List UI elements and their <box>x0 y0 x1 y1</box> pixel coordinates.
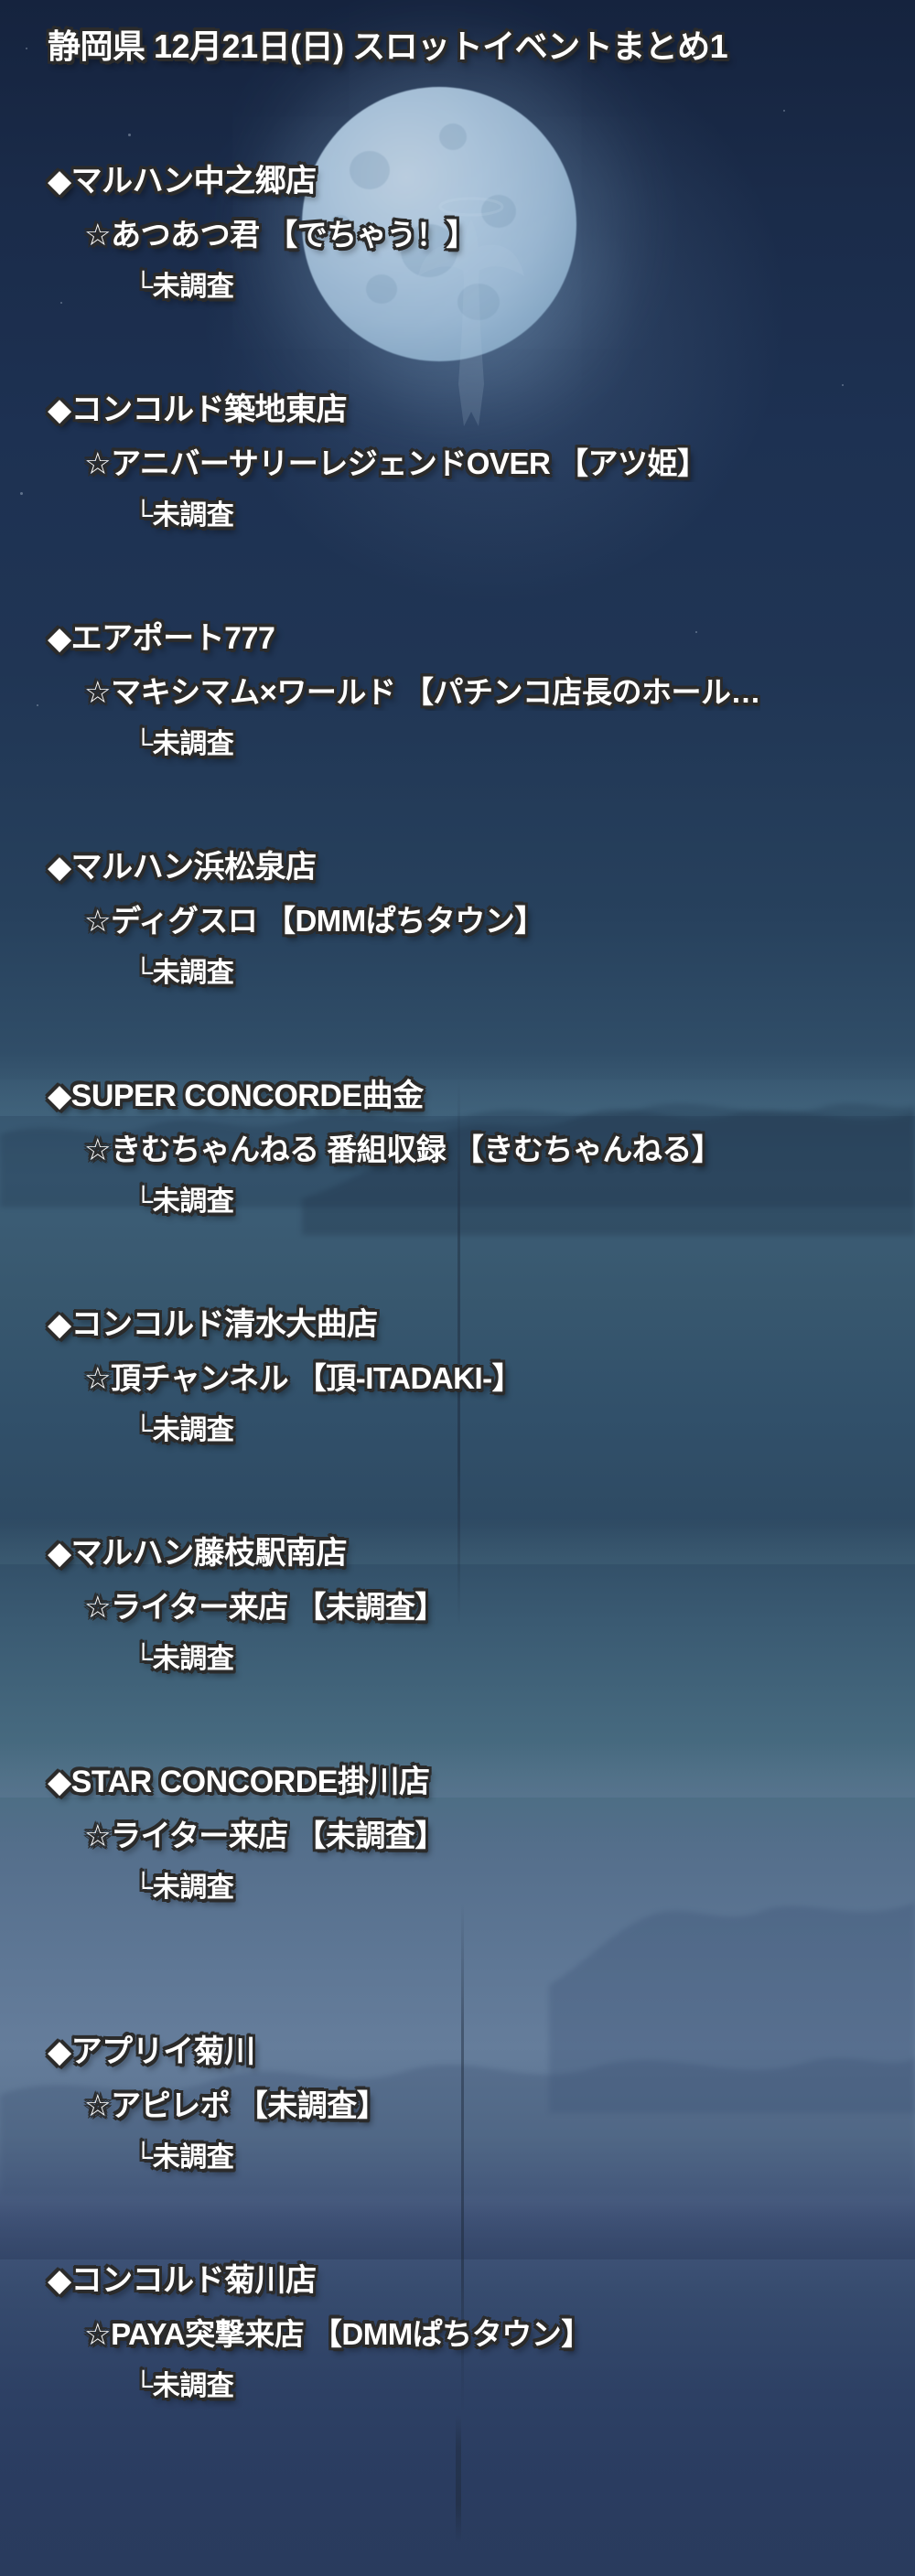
event-name: ☆ディグスロ 【DMMぱちタウン】 <box>84 902 544 939</box>
event-status: └未調査 <box>134 1185 233 1219</box>
event-status: └未調査 <box>134 2141 233 2175</box>
event-status: └未調査 <box>134 2369 233 2404</box>
shop-name: ◆コンコルド菊川店 <box>48 2261 317 2300</box>
event-name: ☆マキシマム×ワールド 【パチンコ店長のホール… <box>84 673 760 711</box>
event-name: ☆頂チャンネル 【頂-ITADAKI-】 <box>84 1359 522 1397</box>
shop-name: ◆コンコルド築地東店 <box>48 391 347 429</box>
shop-name: ◆SUPER CONCORDE曲金 <box>48 1077 424 1115</box>
event-status: └未調査 <box>134 1642 233 1677</box>
poster-text-content: 静岡県 12月21日(日) スロットイベントまとめ1 ◆マルハン中之郷店 ☆あつ… <box>0 0 915 2576</box>
event-status: └未調査 <box>134 956 233 991</box>
event-name: ☆PAYA突撃来店 【DMMぱちタウン】 <box>84 2315 591 2353</box>
shop-name: ◆マルハン中之郷店 <box>48 162 317 200</box>
shop-name: ◆エアポート777 <box>48 619 274 658</box>
event-name: ☆きむちゃんねる 番組収録 【きむちゃんねる】 <box>84 1131 721 1168</box>
event-status: └未調査 <box>134 1413 233 1448</box>
event-name: ☆ライター来店 【未調査】 <box>84 1588 445 1626</box>
event-name: ☆あつあつ君 【でちゃう！】 <box>84 216 476 253</box>
shop-name: ◆マルハン浜松泉店 <box>48 848 317 886</box>
shop-name: ◆マルハン藤枝駅南店 <box>48 1534 347 1572</box>
event-poster: 静岡県 12月21日(日) スロットイベントまとめ1 ◆マルハン中之郷店 ☆あつ… <box>0 0 915 2576</box>
event-status: └未調査 <box>134 1871 233 1905</box>
shop-name: ◆コンコルド清水大曲店 <box>48 1305 378 1344</box>
event-name: ☆ライター来店 【未調査】 <box>84 1817 445 1854</box>
event-name: ☆アニバーサリーレジェンドOVER 【アツ姫】 <box>84 445 706 482</box>
shop-name: ◆アプリイ菊川 <box>48 2033 255 2071</box>
shop-name: ◆STAR CONCORDE掛川店 <box>48 1763 429 1801</box>
event-status: └未調査 <box>134 727 233 762</box>
page-title: 静岡県 12月21日(日) スロットイベントまとめ1 <box>48 27 727 67</box>
event-name: ☆アピレポ 【未調査】 <box>84 2087 386 2124</box>
event-status: └未調査 <box>134 499 233 533</box>
event-status: └未調査 <box>134 270 233 305</box>
